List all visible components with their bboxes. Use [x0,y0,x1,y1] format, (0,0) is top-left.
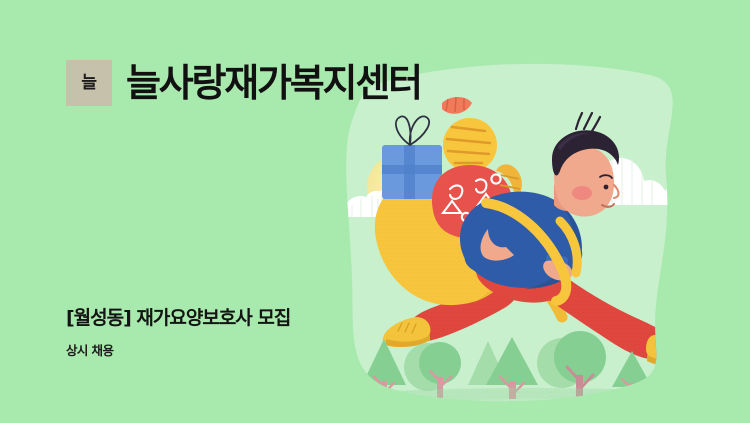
runner-torso [460,192,582,289]
sun-icon [367,154,433,220]
page-title: 늘사랑재가복지센터 [126,64,421,102]
background-blob [346,64,672,401]
tree-conifer [486,337,538,404]
runner-front-arm [541,231,582,281]
brand-header: 늘 늘사랑재가복지센터 [66,60,421,106]
runner-front-leg [534,268,674,360]
illustration-running-man-with-gift-sack [330,55,750,423]
logo-chip: 늘 [66,60,112,106]
gift-ball-striped-yellow [443,118,497,172]
tree-round [554,331,606,403]
sack-strap-back [478,251,562,317]
runner-hip [476,253,565,302]
cloud-right [562,156,720,205]
runner-back-shoe [383,317,431,347]
ground-texture [330,388,750,413]
runner-back-arm [464,221,524,274]
job-title: [월성동] 재가요양보호사 모집 [66,303,290,330]
trees-row [362,331,652,404]
tree-conifer [362,339,406,403]
job-posting-info: [월성동] 재가요양보호사 모집 상시 채용 [66,303,290,359]
gift-sack [375,179,517,305]
sack-strap-front [486,203,577,301]
tree-conifer [612,351,652,403]
runner-head [552,113,619,217]
job-posting-banner: 늘 늘사랑재가복지센터 [월성동] 재가요양보호사 모집 상시 채용 [0,0,750,423]
cloud-left [342,179,450,217]
gift-ball-red-pattern [432,164,522,239]
gift-box-blue [382,116,442,199]
runner-back-leg [408,275,519,341]
job-status-badge: 상시 채용 [66,340,290,359]
runner-front-shoe [646,335,702,367]
logo-chip-glyph: 늘 [81,75,96,92]
tree-round [419,342,461,403]
hill [330,399,750,423]
candy-small [442,97,472,114]
